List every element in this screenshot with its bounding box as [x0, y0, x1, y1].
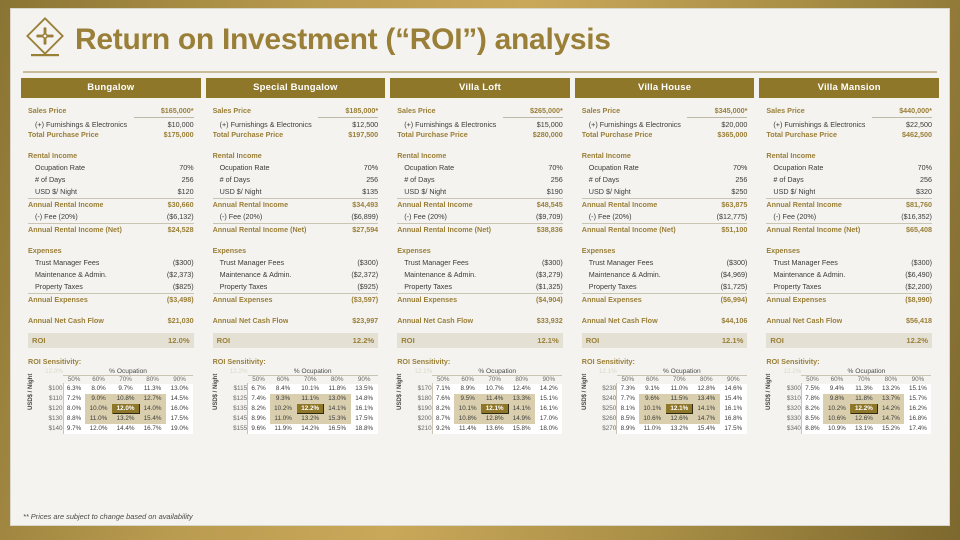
occupation-header-2: 70% [481, 376, 508, 384]
sensitivity-cell: 8.9% [248, 414, 270, 424]
row-usd-night: USD $/ Night$250 [582, 186, 748, 198]
sensitivity-cell: 13.2% [666, 424, 693, 434]
property-taxes-label: Property Taxes [213, 281, 268, 293]
row-trust-manager-fees: Trust Manager Fees($300) [213, 257, 379, 269]
occupation-header-4: 90% [720, 376, 747, 384]
days-label: # of Days [766, 174, 803, 186]
occupation-header-0: 50% [432, 376, 454, 384]
annual-net-cash-flow-value: $33,932 [537, 315, 563, 327]
sensitivity-cell: 16.1% [535, 404, 562, 414]
sensitivity-cell: 12.6% [666, 414, 693, 424]
sensitivity-cell: 10.1% [297, 384, 324, 394]
row-trust-manager-fees: Trust Manager Fees($300) [766, 257, 932, 269]
sensitivity-cell: 7.7% [617, 394, 639, 404]
sensitivity-table: 12.0%% Ocupation50%60%70%80%90%$1006.3%8… [37, 368, 193, 434]
row-sales-price: Sales Price$440,000* [766, 105, 932, 117]
sales-price-label: Sales Price [582, 105, 620, 117]
roi-bar: ROI12.1% [397, 333, 563, 348]
fee-label: (-) Fee (20%) [213, 211, 263, 223]
sensitivity-cell: 7.3% [617, 384, 639, 394]
sensitivity-cell: 17.0% [535, 414, 562, 424]
sensitivity-cell: 7.4% [248, 394, 270, 404]
price-axis-label: USD$ / Night [213, 368, 222, 434]
slide-header: Return on Investment (“ROI”) analysis [11, 9, 949, 71]
fee-value: ($9,709) [529, 211, 563, 223]
sensitivity-cell: 9.5% [454, 394, 481, 404]
annual-net-cash-flow-label: Annual Net Cash Flow [766, 315, 842, 327]
sensitivity-cell: 8.9% [454, 384, 481, 394]
sensitivity-corner-roi: 12.2% [776, 368, 802, 376]
sensitivity-cell: 15.8% [508, 424, 535, 434]
sensitivity-cell: 7.2% [63, 394, 85, 404]
sensitivity-cell: 11.0% [270, 414, 297, 424]
roi-label: ROI [586, 336, 600, 345]
sensitivity-row: $1156.7%8.4%10.1%11.8%13.5% [222, 384, 378, 394]
row-annual-net-cash-flow: Annual Net Cash Flow$33,932 [397, 315, 563, 327]
rental-income-label: Rental Income [397, 150, 446, 162]
price-header-3: $260 [591, 414, 617, 424]
annual-rental-income-label: Annual Rental Income [28, 199, 103, 211]
row-annual-expenses: Annual Expenses($3,597) [213, 294, 379, 306]
usd-night-value: $135 [355, 186, 378, 198]
annual-rental-income-label: Annual Rental Income [397, 199, 472, 211]
row-annual-rental-income-net: Annual Rental Income (Net)$38,836 [397, 224, 563, 236]
sensitivity-cell: 9.7% [63, 424, 85, 434]
price-header-3: $330 [776, 414, 802, 424]
sensitivity-cell: 12.2% [850, 404, 877, 414]
sensitivity-row: $2307.3%9.1%11.0%12.8%14.6% [591, 384, 747, 394]
sensitivity-cell: 15.7% [904, 394, 931, 404]
row-rental-income: Rental Income [213, 150, 379, 162]
occupation-header-4: 90% [535, 376, 562, 384]
row-annual-rental-income: Annual Rental Income$34,493 [213, 199, 379, 211]
sales-price-value: $165,000* [161, 105, 194, 117]
annual-net-cash-flow-value: $23,997 [352, 315, 378, 327]
occupation-header-4: 90% [904, 376, 931, 384]
sales-price-value: $185,000* [345, 105, 378, 117]
sensitivity-cell: 12.4% [508, 384, 535, 394]
annual-rental-income-net-value: $65,408 [906, 224, 932, 236]
sensitivity-cell: 11.0% [85, 414, 112, 424]
price-header-0: $300 [776, 384, 802, 394]
days-value: 256 [359, 174, 378, 186]
sensitivity-cell: 7.6% [432, 394, 454, 404]
sensitivity-title: ROI Sensitivity: [397, 357, 563, 366]
sensitivity-cell: 8.2% [432, 404, 454, 414]
annual-net-cash-flow-value: $21,030 [168, 315, 194, 327]
sensitivity-cell: 9.3% [270, 394, 297, 404]
sensitivity-row: $1257.4%9.3%11.1%13.0%14.8% [222, 394, 378, 404]
roi-label: ROI [401, 336, 415, 345]
annual-rental-income-net-value: $27,594 [352, 224, 378, 236]
sensitivity-cell: 12.2% [297, 404, 324, 414]
sensitivity-cell: 8.9% [617, 424, 639, 434]
price-header-3: $130 [37, 414, 63, 424]
row-fee: (-) Fee (20%)($6,899) [213, 211, 379, 223]
sensitivity-cell: 17.5% [351, 414, 378, 424]
roi-label: ROI [217, 336, 231, 345]
sensitivity-cell: 10.7% [481, 384, 508, 394]
occupation-rate-label: Ocupation Rate [397, 162, 454, 174]
sensitivity-cell: 10.6% [639, 414, 666, 424]
occupation-header-3: 80% [693, 376, 720, 384]
occupation-header-3: 80% [508, 376, 535, 384]
sensitivity-cell: 12.0% [112, 404, 139, 414]
occupation-header-2: 70% [112, 376, 139, 384]
sensitivity-cell: 11.0% [639, 424, 666, 434]
sensitivity-title: ROI Sensitivity: [582, 357, 748, 366]
sensitivity-cell: 11.0% [666, 384, 693, 394]
sensitivity-corner-roi: 12.1% [407, 368, 433, 376]
occupation-axis-label: % Ocupation [248, 368, 378, 376]
sensitivity-row: $3208.2%10.2%12.2%14.2%16.2% [776, 404, 932, 414]
sensitivity-cell: 10.2% [823, 404, 850, 414]
sensitivity-cell: 8.8% [63, 414, 85, 424]
row-usd-night: USD $/ Night$320 [766, 186, 932, 198]
trust-manager-fees-value: ($300) [350, 257, 378, 269]
sensitivity-row: $1409.7%12.0%14.4%16.7%19.0% [37, 424, 193, 434]
sensitivity-cell: 8.0% [85, 384, 112, 394]
row-annual-expenses: Annual Expenses($4,904) [397, 294, 563, 306]
maintenance-admin-label: Maintenance & Admin. [28, 269, 107, 281]
occupation-header-0: 50% [801, 376, 823, 384]
sensitivity-row: $1908.2%10.1%12.1%14.1%16.1% [407, 404, 563, 414]
expenses-label: Expenses [28, 245, 62, 257]
sensitivity-cell: 8.1% [617, 404, 639, 414]
sensitivity-row: $1107.2%9.0%10.8%12.7%14.5% [37, 394, 193, 404]
annual-rental-income-value: $81,760 [906, 199, 932, 211]
sensitivity-cell: 12.6% [850, 414, 877, 424]
sensitivity-cell: 10.8% [454, 414, 481, 424]
property-taxes-value: ($2,200) [898, 281, 932, 293]
row-annual-net-cash-flow: Annual Net Cash Flow$23,997 [213, 315, 379, 327]
trust-manager-fees-label: Trust Manager Fees [28, 257, 99, 269]
sensitivity-cell: 13.7% [877, 394, 904, 404]
occupation-header-1: 60% [454, 376, 481, 384]
sensitivity-cell: 10.0% [85, 404, 112, 414]
sensitivity-cell: 15.2% [877, 424, 904, 434]
maintenance-admin-value: ($6,490) [898, 269, 932, 281]
row-rental-income: Rental Income [28, 150, 194, 162]
roi-label: ROI [32, 336, 46, 345]
row-property-taxes: Property Taxes($1,325) [397, 281, 563, 293]
row-annual-net-cash-flow: Annual Net Cash Flow$56,418 [766, 315, 932, 327]
usd-night-value: $190 [540, 186, 563, 198]
row-fee: (-) Fee (20%)($9,709) [397, 211, 563, 223]
price-header-4: $340 [776, 424, 802, 434]
annual-expenses-label: Annual Expenses [28, 294, 88, 306]
sensitivity-cell: 9.6% [639, 394, 666, 404]
sensitivity-cell: 13.2% [877, 384, 904, 394]
row-expenses: Expenses [397, 245, 563, 257]
maintenance-admin-label: Maintenance & Admin. [213, 269, 292, 281]
annual-net-cash-flow-value: $56,418 [906, 315, 932, 327]
row-sales-price: Sales Price$345,000* [582, 105, 748, 117]
annual-expenses-value: ($3,498) [167, 294, 194, 306]
row-maintenance-admin: Maintenance & Admin.($3,279) [397, 269, 563, 281]
roi-value: 12.1% [537, 336, 559, 345]
sensitivity-row: $3308.5%10.6%12.6%14.7%16.8% [776, 414, 932, 424]
sensitivity-row: $1707.1%8.9%10.7%12.4%14.2% [407, 384, 563, 394]
row-property-taxes: Property Taxes($2,200) [766, 281, 932, 293]
occupation-header-1: 60% [639, 376, 666, 384]
sensitivity-cell: 7.1% [432, 384, 454, 394]
sensitivity-cell: 9.6% [248, 424, 270, 434]
fee-label: (-) Fee (20%) [397, 211, 447, 223]
days-value: 256 [728, 174, 747, 186]
furnishings-label: (+) Furnishings & Electronics [766, 119, 865, 131]
price-header-2: $135 [222, 404, 248, 414]
roi-value: 12.0% [168, 336, 190, 345]
sensitivity-row: $2708.9%11.0%13.2%15.4%17.5% [591, 424, 747, 434]
sensitivity-table: 12.2%% Ocupation50%60%70%80%90%$1156.7%8… [222, 368, 378, 434]
row-furnishings: (+) Furnishings & Electronics$15,000 [397, 117, 563, 129]
column-body: Sales Price$345,000*(+) Furnishings & El… [575, 98, 755, 496]
occupation-rate-label: Ocupation Rate [213, 162, 270, 174]
sensitivity-cell: 12.8% [481, 414, 508, 424]
sensitivity-title: ROI Sensitivity: [213, 357, 379, 366]
row-fee: (-) Fee (20%)($16,352) [766, 211, 932, 223]
row-trust-manager-fees: Trust Manager Fees($300) [28, 257, 194, 269]
usd-night-value: $250 [724, 186, 747, 198]
row-property-taxes: Property Taxes($925) [213, 281, 379, 293]
row-sales-price: Sales Price$165,000* [28, 105, 194, 117]
row-annual-rental-income-net: Annual Rental Income (Net)$24,528 [28, 224, 194, 236]
days-value: 256 [175, 174, 194, 186]
days-label: # of Days [397, 174, 434, 186]
expenses-label: Expenses [397, 245, 431, 257]
occupation-header-3: 80% [139, 376, 166, 384]
fee-label: (-) Fee (20%) [582, 211, 632, 223]
row-days: # of Days256 [766, 174, 932, 186]
fee-value: ($6,132) [160, 211, 194, 223]
annual-rental-income-net-value: $38,836 [537, 224, 563, 236]
sensitivity-cell: 11.4% [481, 394, 508, 404]
usd-night-value: $120 [171, 186, 194, 198]
sensitivity-row: $2109.2%11.4%13.6%15.8%18.0% [407, 424, 563, 434]
row-maintenance-admin: Maintenance & Admin.($2,372) [213, 269, 379, 281]
row-furnishings: (+) Furnishings & Electronics$20,000 [582, 117, 748, 129]
price-header-4: $210 [407, 424, 433, 434]
sales-price-label: Sales Price [766, 105, 804, 117]
occupation-rate-value: 70% [911, 162, 932, 174]
row-expenses: Expenses [28, 245, 194, 257]
column-body: Sales Price$265,000*(+) Furnishings & El… [390, 98, 570, 496]
trust-manager-fees-label: Trust Manager Fees [766, 257, 837, 269]
sensitivity-cell: 13.0% [324, 394, 351, 404]
sensitivity-cell: 14.4% [112, 424, 139, 434]
sensitivity-cell: 9.2% [432, 424, 454, 434]
sensitivity-row: $1807.6%9.5%11.4%13.3%15.1% [407, 394, 563, 404]
sensitivity-cell: 8.2% [248, 404, 270, 414]
sensitivity-title: ROI Sensitivity: [766, 357, 932, 366]
price-header-0: $115 [222, 384, 248, 394]
days-label: # of Days [582, 174, 619, 186]
price-header-2: $320 [776, 404, 802, 414]
occupation-header-4: 90% [166, 376, 193, 384]
roi-bar: ROI12.2% [213, 333, 379, 348]
annual-expenses-label: Annual Expenses [766, 294, 826, 306]
maintenance-admin-label: Maintenance & Admin. [766, 269, 845, 281]
sales-price-value: $440,000* [899, 105, 932, 117]
sensitivity-cell: 9.0% [85, 394, 112, 404]
sensitivity-cell: 10.9% [823, 424, 850, 434]
annual-rental-income-net-label: Annual Rental Income (Net) [582, 224, 676, 236]
column-header: Villa Mansion [759, 78, 939, 98]
price-header-0: $230 [591, 384, 617, 394]
annual-expenses-label: Annual Expenses [582, 294, 642, 306]
sensitivity-cell: 14.8% [351, 394, 378, 404]
row-furnishings: (+) Furnishings & Electronics$10,000 [28, 117, 194, 129]
annual-expenses-value: ($8,990) [905, 294, 932, 306]
sensitivity-cell: 13.1% [850, 424, 877, 434]
row-occupation-rate: Ocupation Rate70% [213, 162, 379, 174]
expenses-label: Expenses [766, 245, 800, 257]
fee-value: ($6,899) [344, 211, 378, 223]
title-divider [23, 71, 937, 73]
sensitivity-cell: 14.1% [693, 404, 720, 414]
sensitivity-cell: 14.6% [720, 384, 747, 394]
sensitivity-cell: 12.0% [85, 424, 112, 434]
sensitivity-cell: 15.4% [139, 414, 166, 424]
price-header-1: $180 [407, 394, 433, 404]
sensitivity-cell: 10.8% [112, 394, 139, 404]
annual-rental-income-label: Annual Rental Income [582, 199, 657, 211]
sales-price-value: $265,000* [530, 105, 563, 117]
sensitivity-wrap: USD$ / Night12.2%% Ocupation50%60%70%80%… [213, 368, 379, 434]
sensitivity-cell: 13.6% [481, 424, 508, 434]
row-furnishings: (+) Furnishings & Electronics$22,500 [766, 117, 932, 129]
price-header-1: $125 [222, 394, 248, 404]
sensitivity-cell: 14.2% [297, 424, 324, 434]
days-label: # of Days [28, 174, 65, 186]
row-annual-rental-income-net: Annual Rental Income (Net)$27,594 [213, 224, 379, 236]
maintenance-admin-value: ($4,969) [714, 269, 748, 281]
occupation-header-1: 60% [270, 376, 297, 384]
occupation-rate-value: 70% [541, 162, 562, 174]
roi-bar: ROI12.2% [766, 333, 932, 348]
price-axis-label: USD$ / Night [582, 368, 591, 434]
sensitivity-wrap: USD$ / Night12.2%% Ocupation50%60%70%80%… [766, 368, 932, 434]
row-rental-income: Rental Income [582, 150, 748, 162]
sensitivity-cell: 18.8% [351, 424, 378, 434]
sensitivity-table: 12.1%% Ocupation50%60%70%80%90%$2307.3%9… [591, 368, 747, 434]
furnishings-value: $10,000 [134, 117, 194, 131]
furnishings-label: (+) Furnishings & Electronics [28, 119, 127, 131]
occupation-header-0: 50% [248, 376, 270, 384]
occupation-header-2: 70% [850, 376, 877, 384]
sensitivity-cell: 10.1% [454, 404, 481, 414]
property-taxes-value: ($925) [350, 281, 378, 293]
row-sales-price: Sales Price$185,000* [213, 105, 379, 117]
sensitivity-wrap: USD$ / Night12.0%% Ocupation50%60%70%80%… [28, 368, 194, 434]
furnishings-value: $22,500 [872, 117, 932, 131]
sensitivity-cell: 16.2% [904, 404, 931, 414]
trust-manager-fees-value: ($300) [720, 257, 748, 269]
sensitivity-cell: 9.4% [823, 384, 850, 394]
maintenance-admin-value: ($2,373) [160, 269, 194, 281]
price-header-2: $120 [37, 404, 63, 414]
annual-rental-income-net-label: Annual Rental Income (Net) [766, 224, 860, 236]
sensitivity-cell: 12.1% [481, 404, 508, 414]
row-property-taxes: Property Taxes($825) [28, 281, 194, 293]
sensitivity-cell: 13.0% [166, 384, 193, 394]
rental-income-label: Rental Income [213, 150, 262, 162]
usd-night-label: USD $/ Night [582, 186, 631, 198]
trust-manager-fees-label: Trust Manager Fees [582, 257, 653, 269]
price-header-4: $155 [222, 424, 248, 434]
sensitivity-table: 12.2%% Ocupation50%60%70%80%90%$3007.5%9… [776, 368, 932, 434]
usd-night-label: USD $/ Night [213, 186, 262, 198]
sensitivity-cell: 12.8% [693, 384, 720, 394]
sensitivity-cell: 15.3% [324, 414, 351, 424]
sensitivity-cell: 8.8% [801, 424, 823, 434]
price-header-3: $145 [222, 414, 248, 424]
sensitivity-row: $1208.0%10.0%12.0%14.0%16.0% [37, 404, 193, 414]
maintenance-admin-value: ($3,279) [529, 269, 563, 281]
sensitivity-row: $3007.5%9.4%11.3%13.2%15.1% [776, 384, 932, 394]
sensitivity-cell: 11.1% [297, 394, 324, 404]
row-sales-price: Sales Price$265,000* [397, 105, 563, 117]
column-header: Special Bungalow [206, 78, 386, 98]
occupation-axis-label: % Ocupation [63, 368, 193, 376]
occupation-rate-value: 70% [172, 162, 193, 174]
roi-bar: ROI12.0% [28, 333, 194, 348]
roi-value: 12.1% [722, 336, 744, 345]
sensitivity-cell: 14.5% [166, 394, 193, 404]
sensitivity-row: $3107.8%9.8%11.8%13.7%15.7% [776, 394, 932, 404]
annual-expenses-label: Annual Expenses [397, 294, 457, 306]
column-header: Villa House [575, 78, 755, 98]
trust-manager-fees-value: ($300) [166, 257, 194, 269]
occupation-rate-label: Ocupation Rate [28, 162, 85, 174]
sensitivity-cell: 15.4% [720, 394, 747, 404]
property-column-4: Villa HouseSales Price$345,000*(+) Furni… [575, 78, 755, 496]
occupation-axis-label: % Ocupation [801, 368, 931, 376]
fee-label: (-) Fee (20%) [28, 211, 78, 223]
sensitivity-cell: 15.1% [904, 384, 931, 394]
row-maintenance-admin: Maintenance & Admin.($4,969) [582, 269, 748, 281]
property-column-5: Villa MansionSales Price$440,000*(+) Fur… [759, 78, 939, 496]
sensitivity-cell: 16.5% [324, 424, 351, 434]
sensitivity-cell: 14.7% [693, 414, 720, 424]
occupation-header-2: 70% [297, 376, 324, 384]
occupation-axis-label: % Ocupation [617, 368, 747, 376]
sensitivity-corner-roi: 12.0% [37, 368, 63, 376]
property-taxes-label: Property Taxes [28, 281, 83, 293]
row-usd-night: USD $/ Night$120 [28, 186, 194, 198]
row-expenses: Expenses [582, 245, 748, 257]
price-axis-label: USD$ / Night [28, 368, 37, 434]
sensitivity-corner-roi: 12.1% [591, 368, 617, 376]
sensitivity-row: $1006.3%8.0%9.7%11.3%13.0% [37, 384, 193, 394]
sensitivity-cell: 11.5% [666, 394, 693, 404]
occupation-rate-label: Ocupation Rate [582, 162, 639, 174]
sensitivity-table: 12.1%% Ocupation50%60%70%80%90%$1707.1%8… [407, 368, 563, 434]
annual-net-cash-flow-label: Annual Net Cash Flow [397, 315, 473, 327]
sensitivity-cell: 8.4% [270, 384, 297, 394]
sensitivity-corner-roi: 12.2% [222, 368, 248, 376]
row-occupation-rate: Ocupation Rate70% [28, 162, 194, 174]
fee-label: (-) Fee (20%) [766, 211, 816, 223]
sensitivity-cell: 6.3% [63, 384, 85, 394]
days-value: 256 [544, 174, 563, 186]
sensitivity-cell: 7.5% [801, 384, 823, 394]
property-taxes-value: ($825) [166, 281, 194, 293]
row-rental-income: Rental Income [766, 150, 932, 162]
usd-night-label: USD $/ Night [766, 186, 815, 198]
sensitivity-cell: 14.1% [324, 404, 351, 414]
